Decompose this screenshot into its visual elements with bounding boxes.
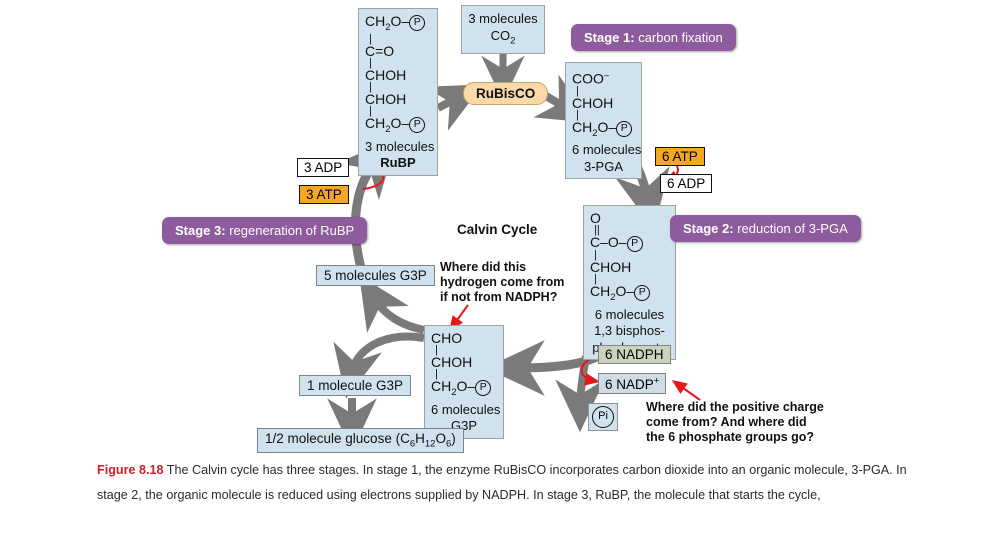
- co2-count: 3 molecules: [468, 12, 538, 27]
- chip-6-adp: 6 ADP: [660, 174, 712, 193]
- stage-1-rest: carbon fixation: [635, 30, 723, 45]
- label-one-molecule-g3p: 1 molecule G3P: [299, 375, 411, 396]
- chip-6-atp-label: 6 ATP: [662, 149, 698, 164]
- figure-caption-text: The Calvin cycle has three stages. In st…: [97, 463, 907, 502]
- pga-line-2: CHOH: [572, 95, 635, 112]
- chip-6-nadp-plus-label: 6 NADP+: [605, 377, 659, 392]
- bond-line: |: [365, 84, 431, 91]
- g3p-line-1: CHO: [431, 330, 497, 347]
- bond-line: |: [365, 108, 431, 115]
- arrow-rubp-to-rubisco: [438, 97, 459, 108]
- cycle-title: Calvin Cycle: [457, 222, 537, 237]
- annotation-hydrogen-line-1: Where did this: [440, 260, 564, 275]
- rubp-line-1: CH2O–P: [365, 13, 431, 36]
- chip-6-nadp-plus: 6 NADP+: [598, 373, 666, 394]
- bond-line: |: [572, 112, 635, 119]
- pi-icon: Pi: [592, 406, 614, 428]
- arrow-g3p-to-one-g3p: [352, 337, 424, 372]
- annotation-hydrogen-question: Where did this hydrogen come from if not…: [440, 260, 564, 305]
- bpg-line-1: O: [590, 210, 669, 227]
- chip-3-adp: 3 ADP: [297, 158, 349, 177]
- annotation-hydrogen-line-3: if not from NADPH?: [440, 290, 564, 305]
- bond-line: |: [431, 347, 497, 354]
- molecule-box-g3p: CHO | CHOH | CH2O–P 6 molecules G3P: [424, 325, 504, 439]
- pga-line-1: COO–: [572, 67, 635, 88]
- rubp-name: RuBP: [365, 156, 431, 171]
- rubp-line-4: CHOH: [365, 91, 431, 108]
- label-glucose-text: 1/2 molecule glucose (C6H12O6): [265, 431, 456, 446]
- figure-number: Figure 8.18: [97, 463, 164, 477]
- calvin-cycle-figure: CH2O–P | C=O | CHOH | CHOH | CH2O–P 3 mo…: [0, 0, 985, 550]
- molecule-box-3pga: COO– | CHOH | CH2O–P 6 molecules 3-PGA: [565, 62, 642, 179]
- pga-count: 6 molecules: [572, 143, 635, 158]
- annotation-charge-line-2: come from? And where did: [646, 415, 824, 430]
- stage-3-rest: regeneration of RuBP: [226, 223, 355, 238]
- molecule-box-co2: 3 molecules CO2: [461, 5, 545, 54]
- bond-line: |: [590, 252, 669, 259]
- annotation-hydrogen-line-2: hydrogen come from: [440, 275, 564, 290]
- chip-6-nadph: 6 NADPH: [598, 345, 671, 364]
- rubp-line-5: CH2O–P: [365, 115, 431, 138]
- enzyme-rubisco: RuBisCO: [463, 82, 548, 105]
- molecule-box-bpg: O || C–O–P | CHOH | CH2O–P 6 molecules 1…: [583, 205, 676, 360]
- stage-3-badge: Stage 3: regeneration of RuBP: [162, 217, 367, 244]
- bpg-name-line-1: 1,3 bisphos-: [590, 324, 669, 339]
- co2-name: CO2: [468, 29, 538, 49]
- stage-2-badge: Stage 2: reduction of 3-PGA: [670, 215, 861, 242]
- enzyme-label: RuBisCO: [476, 86, 535, 101]
- phosphate-icon: P: [409, 15, 425, 31]
- arrow-g3p-to-pi: [580, 356, 586, 405]
- stage-2-rest: reduction of 3-PGA: [734, 221, 848, 236]
- phosphate-pi-box: Pi: [588, 403, 618, 431]
- bond-line: |: [365, 36, 431, 43]
- annotation-charge-line-1: Where did the positive charge: [646, 400, 824, 415]
- label-five-molecules-g3p-text: 5 molecules G3P: [324, 268, 427, 283]
- label-glucose-product: 1/2 molecule glucose (C6H12O6): [257, 428, 464, 453]
- chip-3-adp-label: 3 ADP: [304, 160, 342, 175]
- bpg-line-3: CHOH: [590, 259, 669, 276]
- figure-caption: Figure 8.18 The Calvin cycle has three s…: [97, 458, 927, 508]
- stage-1-bold: Stage 1:: [584, 30, 635, 45]
- phosphate-icon: P: [627, 236, 643, 252]
- stage-1-badge: Stage 1: carbon fixation: [571, 24, 736, 51]
- pointer-charge-question: [676, 383, 700, 400]
- molecule-box-rubp: CH2O–P | C=O | CHOH | CHOH | CH2O–P 3 mo…: [358, 8, 438, 176]
- phosphate-icon: P: [634, 285, 650, 301]
- stage-3-bold: Stage 3:: [175, 223, 226, 238]
- bpg-count: 6 molecules: [590, 308, 669, 323]
- phosphate-icon: P: [475, 380, 491, 396]
- double-bond-line: ||: [590, 227, 669, 234]
- chip-3-atp-label: 3 ATP: [306, 187, 342, 202]
- chip-3-atp: 3 ATP: [299, 185, 349, 204]
- annotation-charge-question: Where did the positive charge come from?…: [646, 400, 824, 445]
- g3p-line-3: CH2O–P: [431, 378, 497, 401]
- g3p-count: 6 molecules: [431, 403, 497, 418]
- label-one-molecule-g3p-text: 1 molecule G3P: [307, 378, 403, 393]
- bond-line: |: [572, 88, 635, 95]
- g3p-line-2: CHOH: [431, 354, 497, 371]
- label-five-molecules-g3p: 5 molecules G3P: [316, 265, 435, 286]
- stage-2-bold: Stage 2:: [683, 221, 734, 236]
- rubp-count: 3 molecules: [365, 140, 431, 155]
- pointer-hydrogen-question: [452, 305, 468, 327]
- arrow-five-g3p-to-rubp: [355, 160, 377, 268]
- chip-6-adp-label: 6 ADP: [667, 176, 705, 191]
- cycle-title-text: Calvin Cycle: [457, 222, 537, 237]
- bond-line: |: [590, 276, 669, 283]
- arrow-g3p-to-five-g3p: [374, 298, 424, 330]
- rubp-line-2: C=O: [365, 43, 431, 60]
- bpg-line-4: CH2O–P: [590, 283, 669, 306]
- bond-line: |: [365, 60, 431, 67]
- rubp-line-3: CHOH: [365, 67, 431, 84]
- chip-6-nadph-label: 6 NADPH: [605, 347, 664, 362]
- pga-line-3: CH2O–P: [572, 119, 635, 142]
- phosphate-icon: P: [409, 117, 425, 133]
- pga-name: 3-PGA: [572, 160, 635, 175]
- bond-line: |: [431, 371, 497, 378]
- phosphate-icon: P: [616, 121, 632, 137]
- annotation-charge-line-3: the 6 phosphate groups go?: [646, 430, 824, 445]
- chip-6-atp: 6 ATP: [655, 147, 705, 166]
- bpg-line-2: C–O–P: [590, 234, 669, 252]
